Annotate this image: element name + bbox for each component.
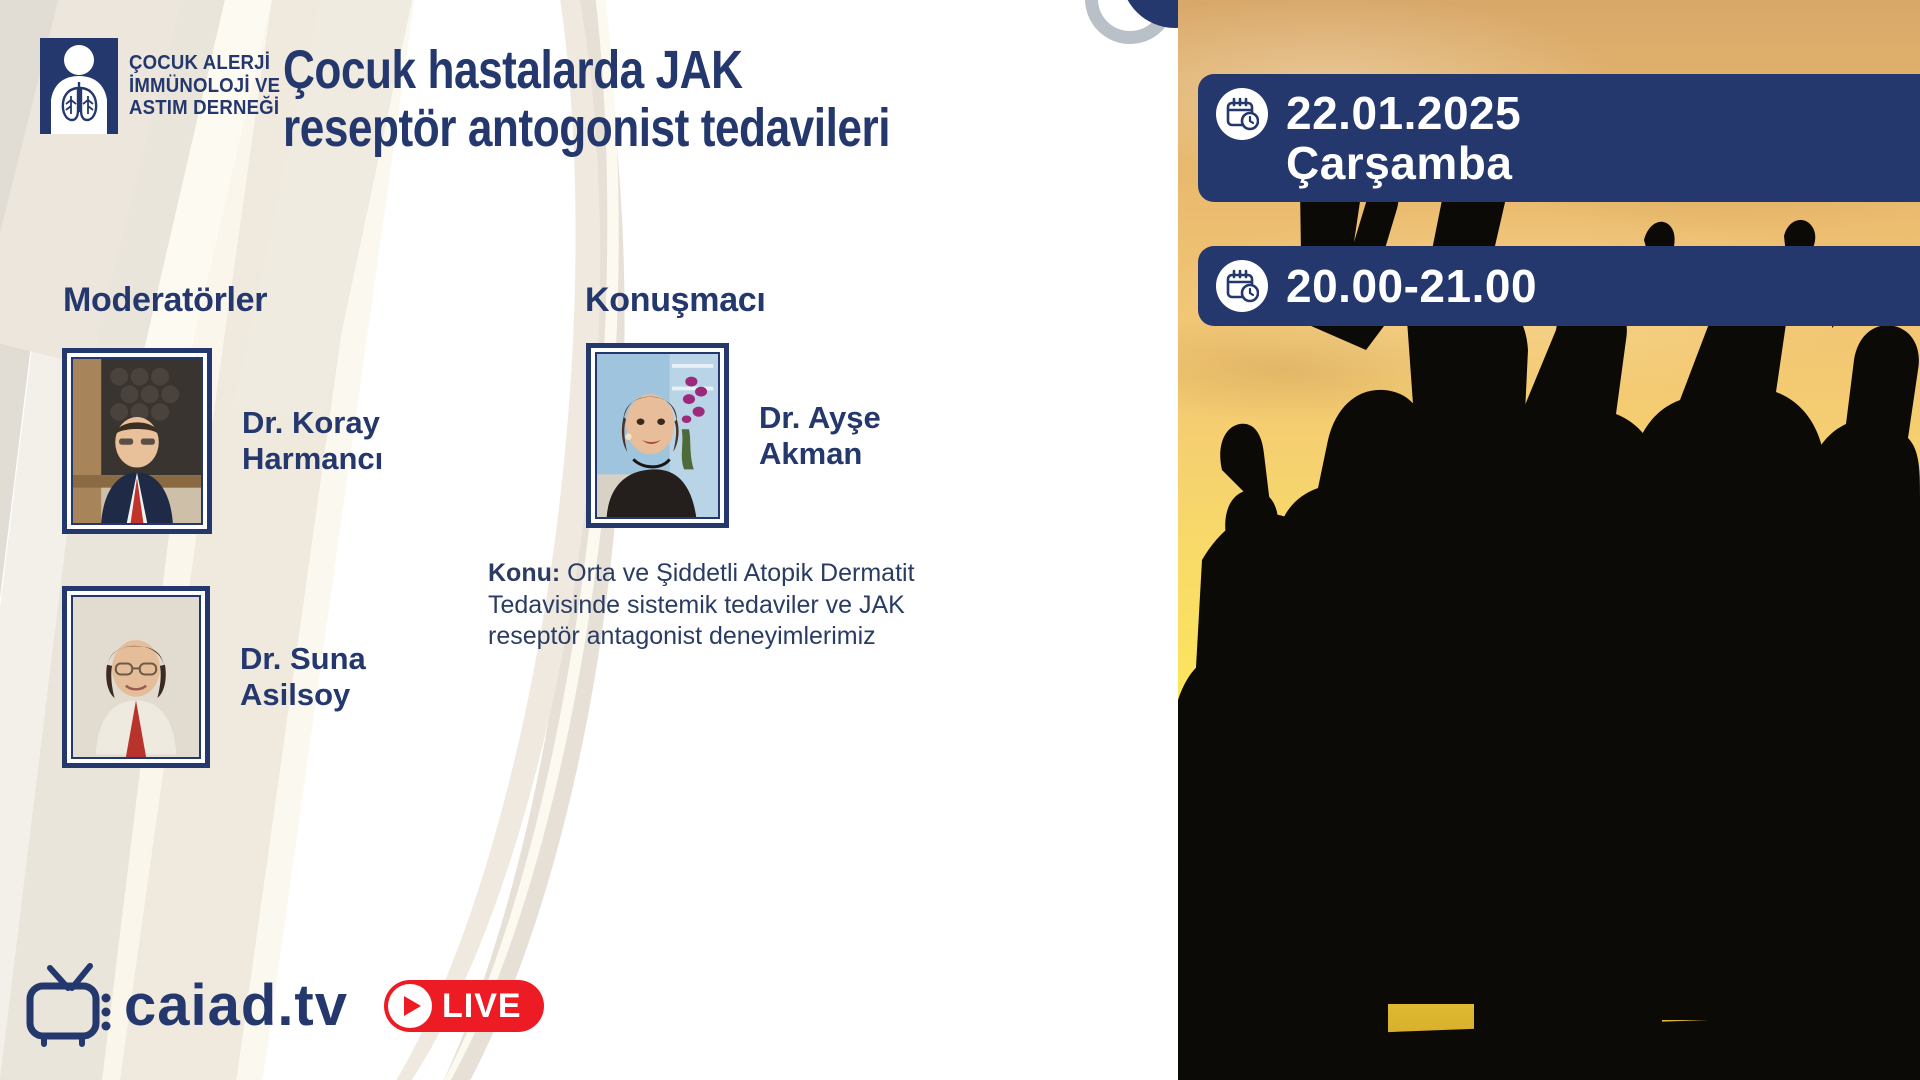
tv-icon <box>24 962 120 1050</box>
moderator-1-photo <box>71 357 203 525</box>
moderator-2-name: Dr. Suna Asilsoy <box>240 641 366 713</box>
topic-text: Konu: Orta ve Şiddetli Atopik Dermatit T… <box>488 558 970 653</box>
moderator-1-photo-frame <box>62 348 212 534</box>
moderator-2-photo-frame <box>62 586 210 768</box>
left-content-panel: ÇOCUK ALERJİ İMMÜNOLOJİ VE ASTIM DERNEĞİ… <box>0 0 1178 1080</box>
moderator-card-1: Dr. Koray Harmancı <box>62 348 383 534</box>
speaker-photo <box>595 352 720 519</box>
brand-bar: caiad.tv LIVE <box>24 962 544 1050</box>
date-badge-text: 22.01.2025 Çarşamba <box>1286 88 1521 188</box>
play-icon <box>388 984 432 1028</box>
moderator-1-name: Dr. Koray Harmancı <box>242 405 383 477</box>
calendar-clock-icon <box>1216 260 1268 312</box>
topic-label: Konu: <box>488 559 560 587</box>
webinar-poster: ÇOCUK ALERJİ İMMÜNOLOJİ VE ASTIM DERNEĞİ… <box>0 0 1920 1080</box>
speaker-card: Dr. Ayşe Akman <box>586 343 881 528</box>
speaker-photo-frame <box>586 343 729 528</box>
calendar-clock-icon <box>1216 88 1268 140</box>
logo-line-1: ÇOCUK ALERJİ <box>129 52 280 74</box>
moderator-card-2: Dr. Suna Asilsoy <box>62 586 366 768</box>
association-logo: ÇOCUK ALERJİ İMMÜNOLOJİ VE ASTIM DERNEĞİ <box>40 38 292 134</box>
speaker-name: Dr. Ayşe Akman <box>759 400 881 472</box>
date-badge: 22.01.2025 Çarşamba <box>1198 74 1920 202</box>
live-badge[interactable]: LIVE <box>384 980 544 1032</box>
site-name[interactable]: caiad.tv <box>124 977 348 1035</box>
live-label: LIVE <box>442 987 522 1026</box>
decorative-circles <box>1085 0 1178 74</box>
poster-title: Çocuk hastalarda JAK reseptör antogonist… <box>283 42 927 158</box>
moderators-heading: Moderatörler <box>63 281 267 320</box>
child-lungs-icon <box>40 38 118 134</box>
time-badge-text: 20.00-21.00 <box>1286 261 1537 312</box>
moderator-2-photo <box>71 595 201 759</box>
time-badge: 20.00-21.00 <box>1198 246 1920 326</box>
logo-line-2: İMMÜNOLOJİ VE <box>129 75 280 97</box>
speaker-heading: Konuşmacı <box>585 281 766 320</box>
association-logo-text: ÇOCUK ALERJİ İMMÜNOLOJİ VE ASTIM DERNEĞİ <box>129 52 292 119</box>
logo-line-3: ASTIM DERNEĞİ <box>129 97 280 119</box>
